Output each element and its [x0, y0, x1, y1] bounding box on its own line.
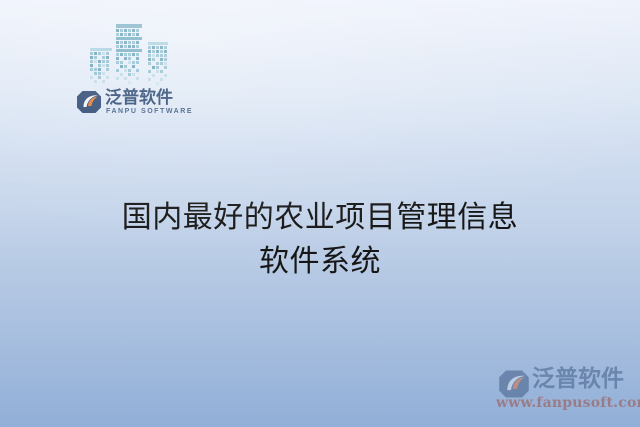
pixel-buildings-icon: [90, 18, 202, 86]
watermark-url: www.fanpusoft.com: [496, 395, 640, 411]
watermark: 泛普软件 www.fanpusoft.com: [492, 363, 632, 419]
brand-name-cn: 泛普软件: [105, 88, 173, 108]
headline-line-2: 软件系统: [0, 240, 640, 284]
building-right-icon: [148, 42, 168, 86]
brand-wordmark: 泛普软件 FANPU SOFTWARE: [76, 88, 194, 126]
building-left-icon: [90, 48, 112, 86]
watermark-name-cn: 泛普软件: [532, 365, 624, 393]
brand-block: 泛普软件 FANPU SOFTWARE: [76, 18, 194, 126]
headline-line-1: 国内最好的农业项目管理信息: [0, 196, 640, 240]
presentation-slide: 泛普软件 FANPU SOFTWARE 国内最好的农业项目管理信息 软件系统 泛…: [0, 0, 640, 427]
fanpu-emblem-icon: [76, 90, 102, 114]
brand-name-en: FANPU SOFTWARE: [106, 108, 193, 115]
building-center-icon: [116, 24, 142, 86]
headline: 国内最好的农业项目管理信息 软件系统: [0, 196, 640, 284]
